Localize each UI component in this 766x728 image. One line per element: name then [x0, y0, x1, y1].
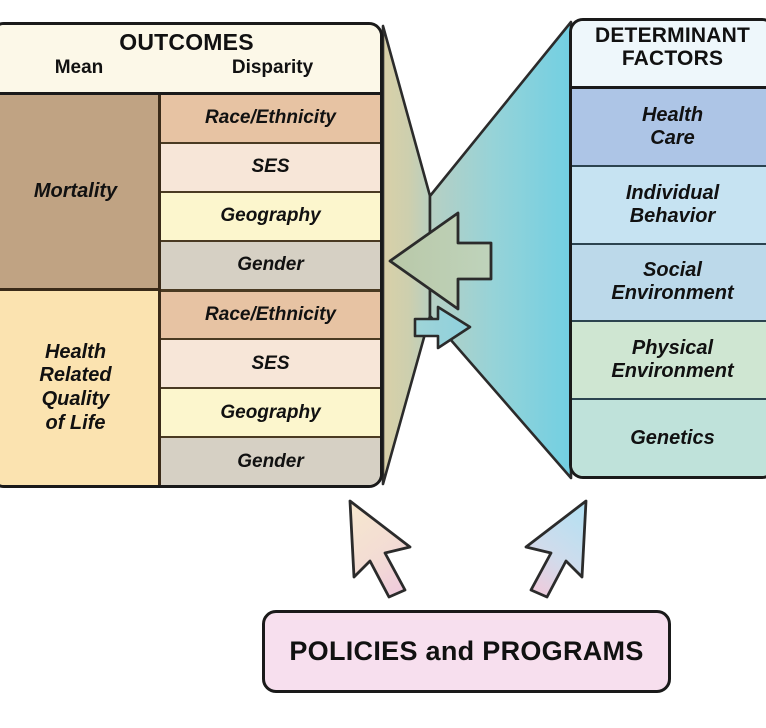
determinant-label: SocialEnvironment [611, 259, 733, 305]
disparity-label: SES [251, 353, 289, 375]
disparity-cell-mortality-gender[interactable]: Gender [161, 242, 380, 292]
disparity-label: Gender [237, 254, 304, 276]
determinant-factors-title-line1: DETERMINANT [572, 25, 766, 48]
determinant-label: Genetics [630, 427, 714, 450]
disparity-cell-hrqol-geography[interactable]: Geography [161, 389, 380, 438]
determinant-label: PhysicalEnvironment [611, 337, 733, 383]
disparity-cell-hrqol-ses[interactable]: SES [161, 340, 380, 389]
determinant-factors-header: DETERMINANT FACTORS [572, 21, 766, 89]
disparity-cell-mortality-geography[interactable]: Geography [161, 193, 380, 242]
policies-to-outcomes-arrow [350, 501, 410, 597]
determinant-label: HealthCare [642, 104, 703, 150]
determinant-cell-social-environment[interactable]: SocialEnvironment [572, 245, 766, 323]
determinant-factors-panel: DETERMINANT FACTORS HealthCare Individua… [569, 18, 766, 479]
disparity-cell-mortality-ses[interactable]: SES [161, 144, 380, 193]
outcomes-subhead-row: Mean Disparity [0, 55, 380, 79]
determinant-factors-title-line2: FACTORS [572, 48, 766, 71]
outcomes-header: OUTCOMES Mean Disparity [0, 25, 380, 95]
policies-and-programs-box[interactable]: POLICIES and PROGRAMS [262, 610, 671, 693]
outcomes-title: OUTCOMES [0, 25, 380, 55]
determinant-cell-physical-environment[interactable]: PhysicalEnvironment [572, 322, 766, 400]
policies-to-determinants-arrow [526, 501, 586, 597]
outcomes-panel: OUTCOMES Mean Disparity Mortality Health… [0, 22, 383, 488]
determinant-cell-genetics[interactable]: Genetics [572, 400, 766, 476]
disparity-label: SES [251, 156, 289, 178]
outcomes-body: Mortality HealthRelatedQualityof Life Ra… [0, 95, 380, 485]
disparity-cell-hrqol-race[interactable]: Race/Ethnicity [161, 292, 380, 341]
disparity-cell-hrqol-gender[interactable]: Gender [161, 438, 380, 485]
outcomes-mean-column: Mortality HealthRelatedQualityof Life [0, 95, 161, 485]
disparity-cell-mortality-race[interactable]: Race/Ethnicity [161, 95, 380, 144]
outcome-mean-mortality[interactable]: Mortality [0, 95, 158, 291]
outcome-mean-mortality-label: Mortality [34, 180, 117, 204]
outcome-mean-hrqol[interactable]: HealthRelatedQualityof Life [0, 291, 158, 485]
policies-and-programs-label: POLICIES and PROGRAMS [289, 636, 643, 667]
determinant-cell-individual-behavior[interactable]: IndividualBehavior [572, 167, 766, 245]
outcomes-subhead-disparity: Disparity [165, 57, 380, 79]
diagram-canvas: OUTCOMES Mean Disparity Mortality Health… [0, 0, 766, 728]
determinant-cell-health-care[interactable]: HealthCare [572, 89, 766, 167]
determinant-factors-body: HealthCare IndividualBehavior SocialEnvi… [572, 89, 766, 476]
disparity-label: Race/Ethnicity [205, 304, 336, 326]
outcome-mean-hrqol-label: HealthRelatedQualityof Life [39, 341, 111, 435]
determinant-label: IndividualBehavior [626, 182, 719, 228]
disparity-label: Race/Ethnicity [205, 107, 336, 129]
outcomes-disparity-column: Race/Ethnicity SES Geography Gender Race… [161, 95, 380, 485]
disparity-label: Geography [220, 402, 320, 424]
determinant-factors-title: DETERMINANT FACTORS [572, 21, 766, 70]
disparity-label: Geography [220, 205, 320, 227]
disparity-label: Gender [237, 451, 304, 473]
outcomes-subhead-mean: Mean [0, 57, 165, 79]
